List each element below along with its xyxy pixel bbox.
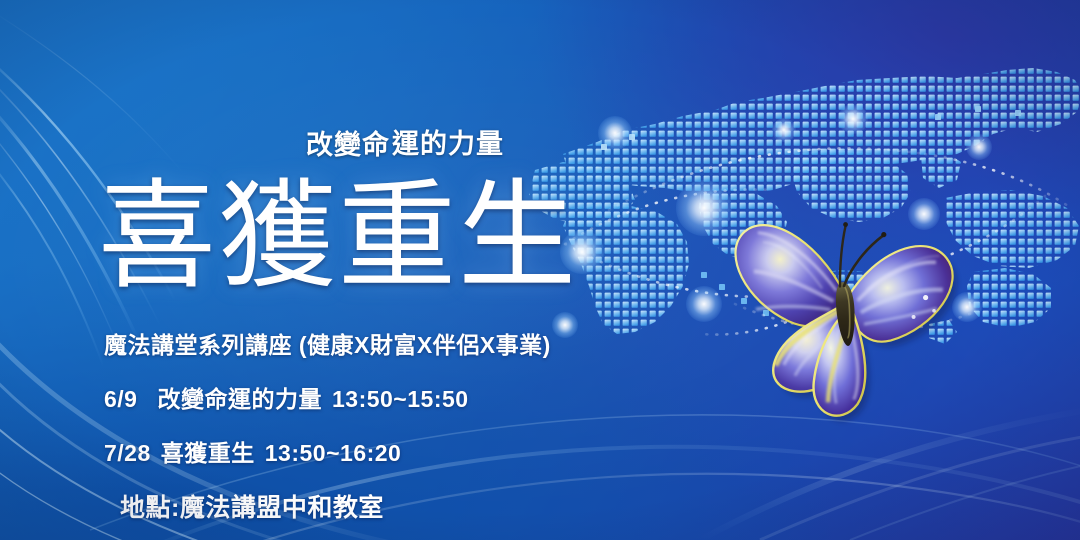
vignette-overlay — [0, 0, 1080, 540]
poster-canvas: 改變命運的力量 喜獲重生 魔法講堂系列講座 (健康X財富X伴侶X事業) 6/9改… — [0, 0, 1080, 540]
